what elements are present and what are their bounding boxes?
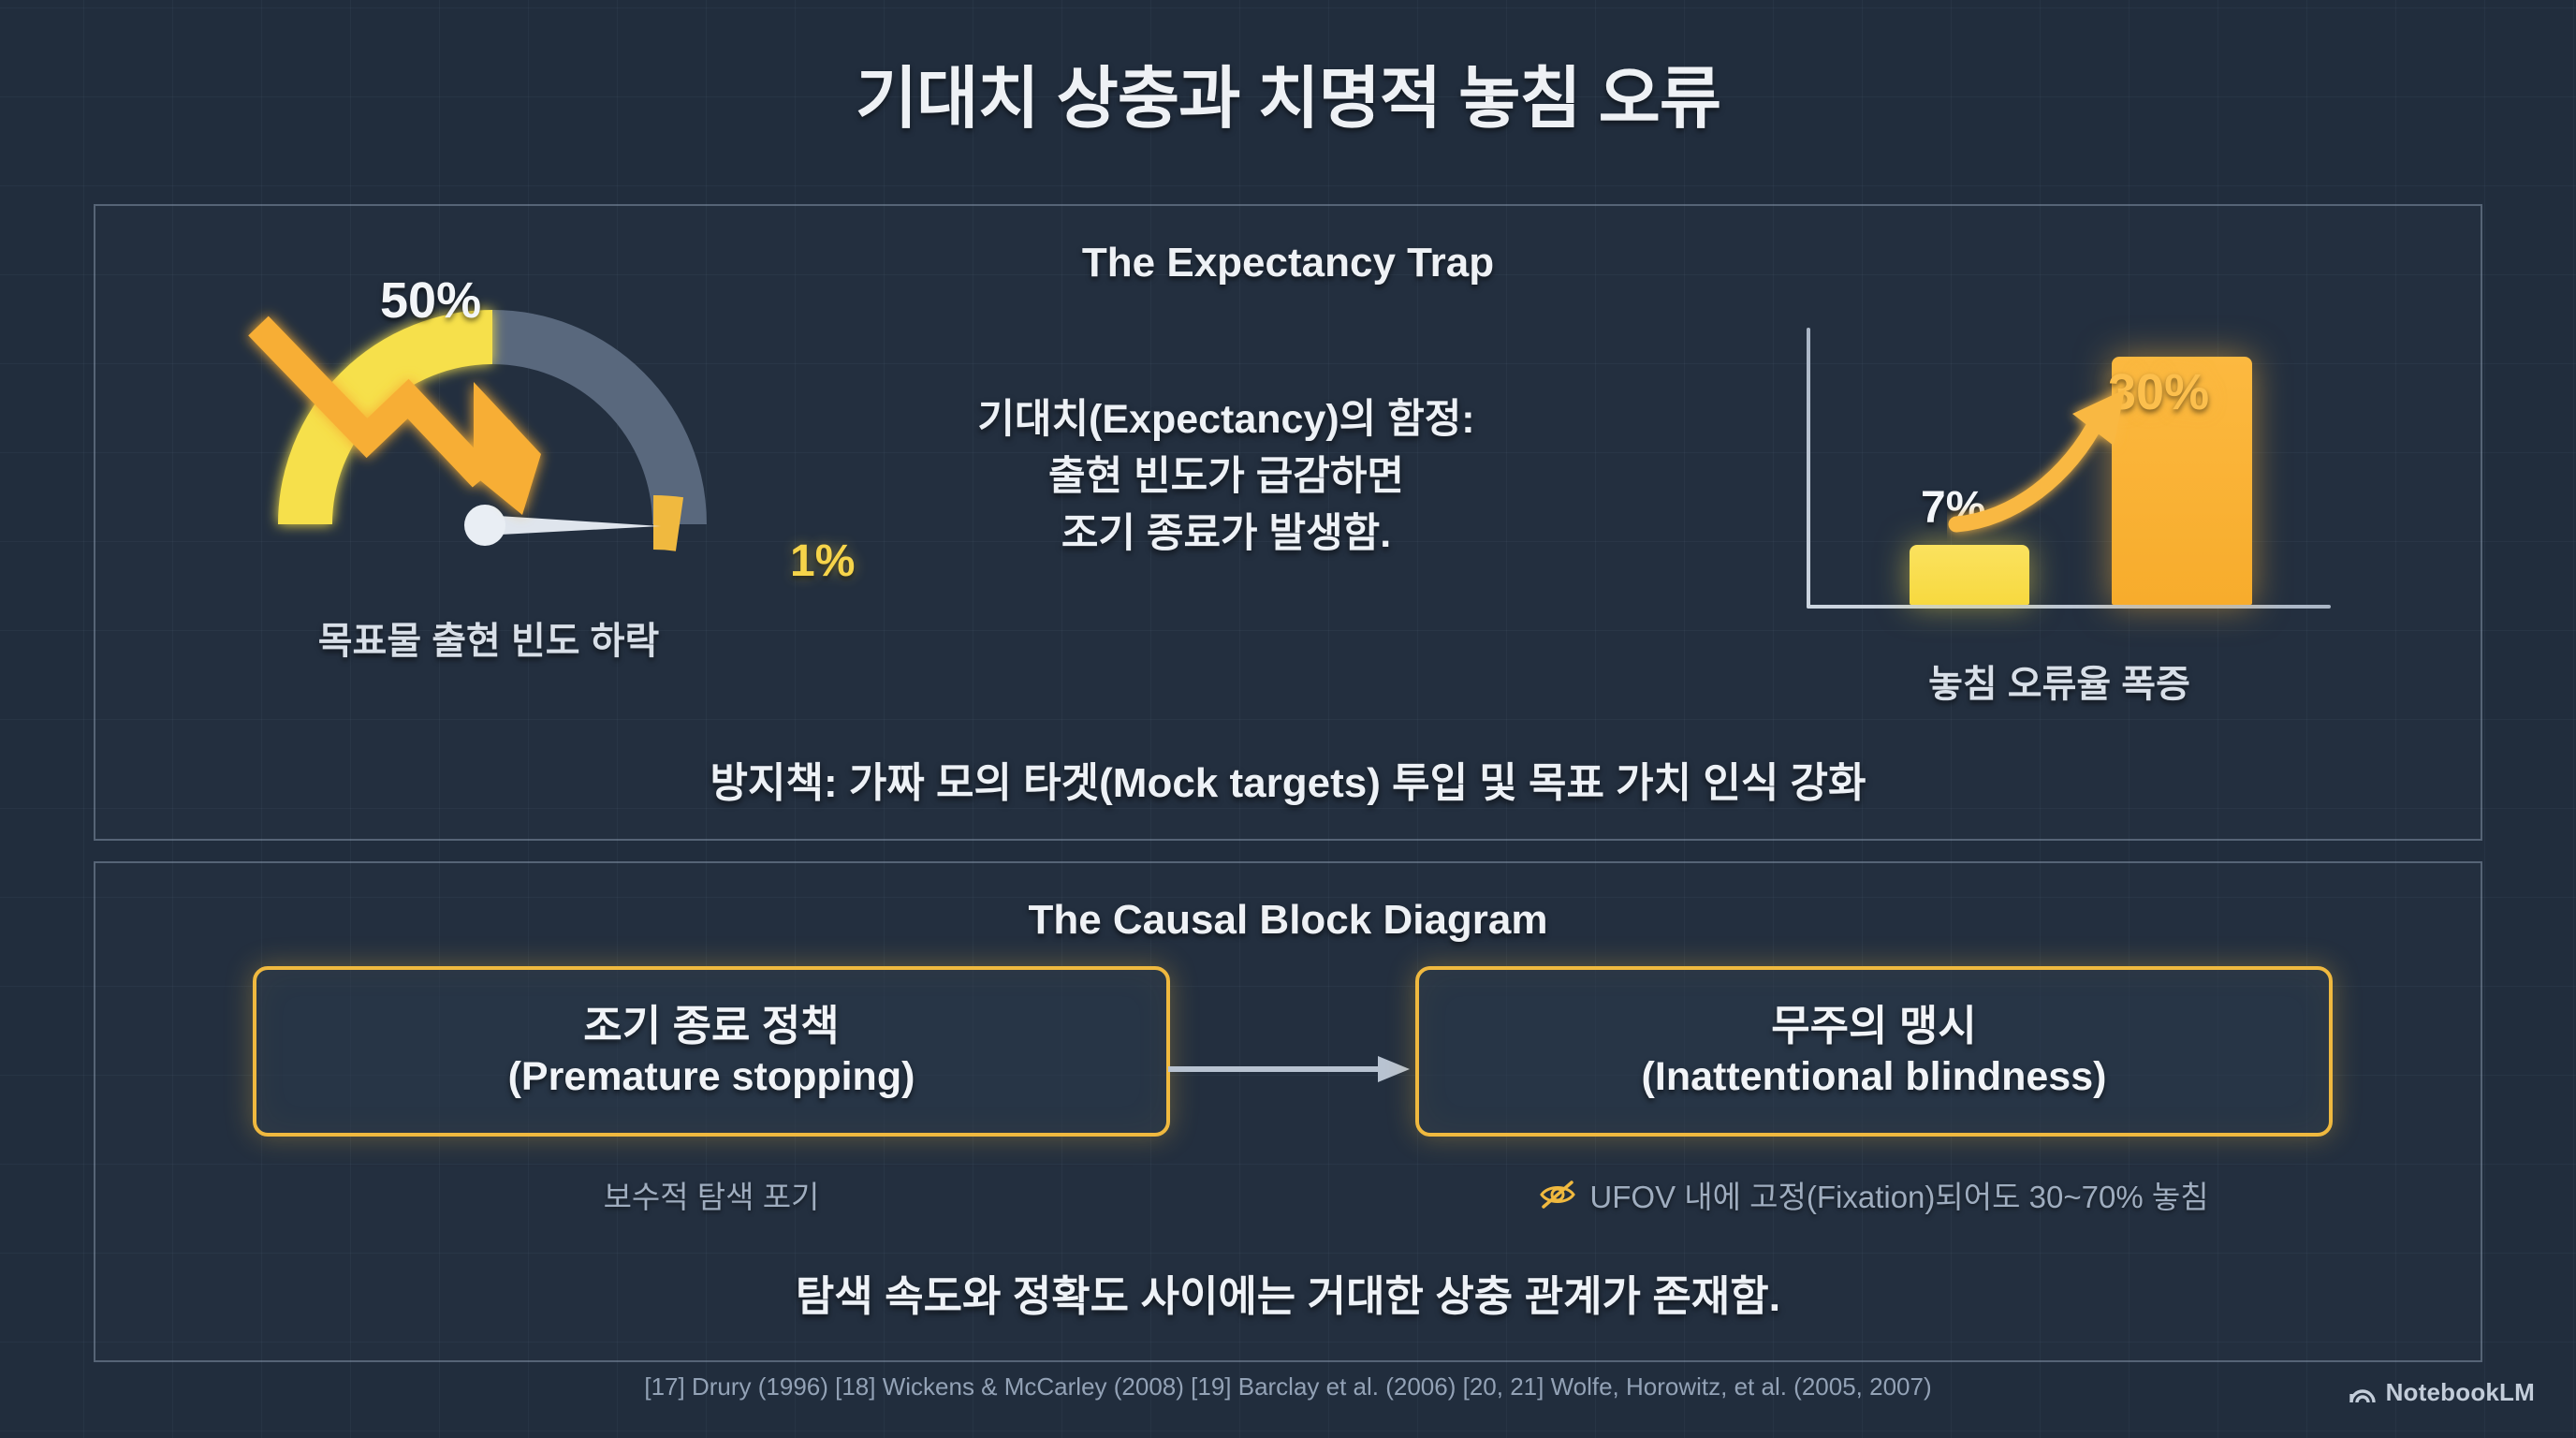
block-right-caption: UFOV 내에 고정(Fixation)되어도 30~70% 놓침 xyxy=(1415,1172,2333,1217)
right-arrow-icon xyxy=(1168,1050,1413,1088)
slide-canvas: 기대치 상충과 치명적 놓침 오류 The Expectancy Trap xyxy=(0,0,2576,1438)
prevention-statement: 방지책: 가짜 모의 타겟(Mock targets) 투입 및 목표 가치 인… xyxy=(0,749,2576,809)
miss-rate-bar-chart: 7% 30% 놓침 오류율 폭증 xyxy=(1778,309,2340,683)
page-title: 기대치 상충과 치명적 놓침 오류 xyxy=(0,43,2576,141)
gauge-high-label: 50% xyxy=(380,271,481,330)
conclusion-statement: 탐색 속도와 정확도 사이에는 거대한 상충 관계가 존재함. xyxy=(0,1262,2576,1323)
block-left-caption-text: 보수적 탐색 포기 xyxy=(604,1172,820,1217)
eye-off-icon xyxy=(1539,1179,1576,1211)
block-premature-stopping[interactable]: 조기 종료 정책 (Premature stopping) xyxy=(253,966,1170,1137)
gauge-low-label: 1% xyxy=(790,536,855,587)
block-inattentional-blindness[interactable]: 무주의 맹시 (Inattentional blindness) xyxy=(1415,966,2333,1137)
expectancy-line-1: 기대치(Expectancy)의 함정: xyxy=(899,391,1554,448)
bar-chart-caption: 놓침 오류율 폭증 xyxy=(1778,653,2340,708)
gauge-caption: 목표물 출현 빈도 하락 xyxy=(161,610,816,665)
expectancy-line-2: 출현 빈도가 급감하면 xyxy=(899,448,1554,506)
block-left-caption: 보수적 탐색 포기 xyxy=(253,1172,1170,1217)
notebooklm-logo-icon xyxy=(2349,1381,2377,1405)
citations-text: [17] Drury (1996) [18] Wickens & McCarle… xyxy=(0,1372,2576,1401)
block-left-title-en: (Premature stopping) xyxy=(508,1052,915,1102)
bar-baseline xyxy=(1910,545,2029,605)
panel-header-causal: The Causal Block Diagram xyxy=(95,897,2481,944)
block-right-caption-text: UFOV 내에 고정(Fixation)되어도 30~70% 놓침 xyxy=(1589,1172,2208,1217)
expectancy-statement: 기대치(Expectancy)의 함정: 출현 빈도가 급감하면 조기 종료가 … xyxy=(899,391,1554,563)
prevalence-gauge: 50% 1% 목표물 출현 빈도 하락 xyxy=(193,281,792,674)
rising-arrow-icon xyxy=(1947,374,2162,543)
block-right-title-en: (Inattentional blindness) xyxy=(1642,1052,2107,1102)
brand-label: NotebookLM xyxy=(2386,1378,2535,1407)
block-left-title-ko: 조기 종료 정책 xyxy=(583,1000,839,1052)
block-right-title-ko: 무주의 맹시 xyxy=(1771,1000,1977,1052)
chart-x-axis xyxy=(1807,605,2331,609)
chart-y-axis xyxy=(1807,328,1810,609)
brand-notebooklm: NotebookLM xyxy=(2349,1378,2535,1407)
expectancy-line-3: 조기 종료가 발생함. xyxy=(899,506,1554,563)
